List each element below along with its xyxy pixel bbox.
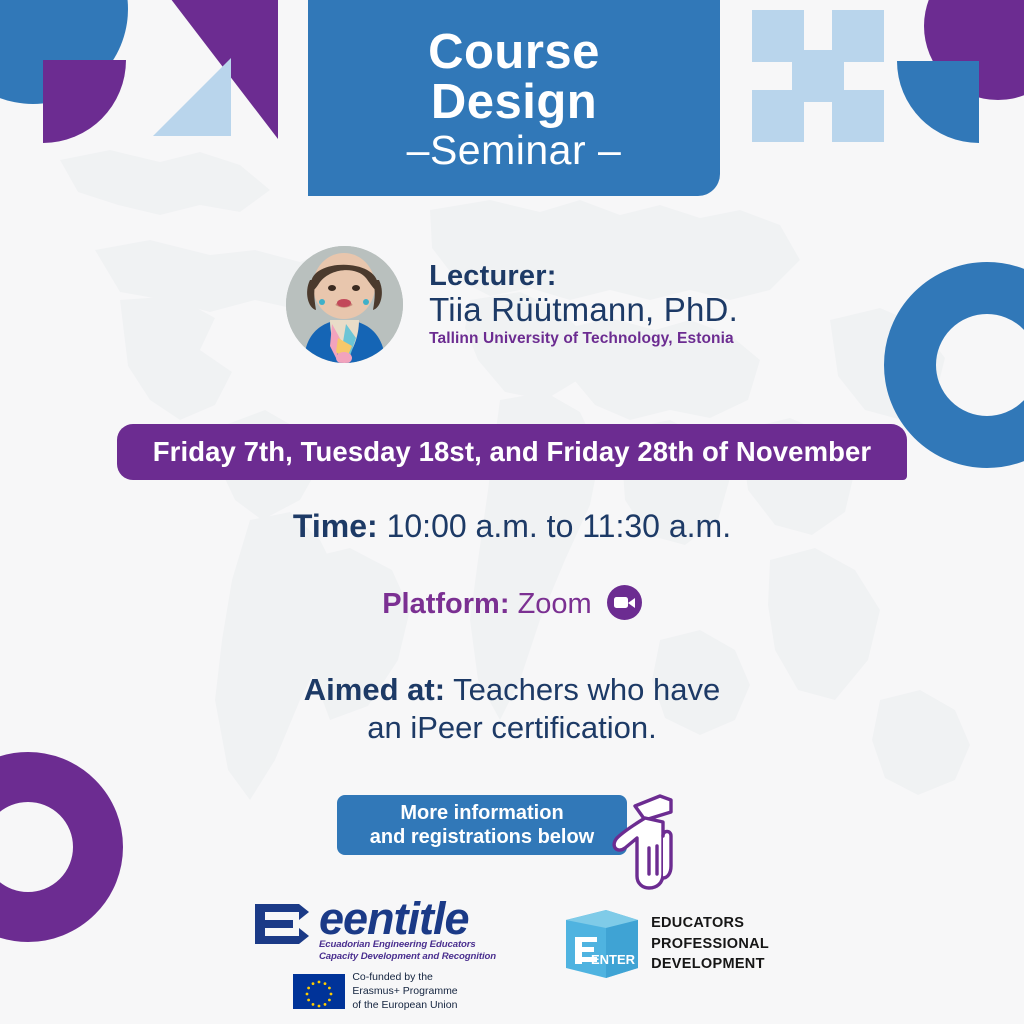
cta-inner: More information and registrations below [337,790,687,900]
footer: eentitle Ecuadorian Engineering Educator… [0,898,1024,1013]
decor-checker-square-2 [832,10,884,62]
time-line: Time: 10:00 a.m. to 11:30 a.m. [0,508,1024,545]
decor-lightblue-triangle-topleft [153,58,231,136]
decor-checker-square-3 [792,50,844,102]
cta-section: More information and registrations below [0,790,1024,900]
decor-purple-circle-topright [924,0,1024,100]
platform-value: Zoom [518,588,592,620]
portrait-illustration [286,246,403,363]
lecturer-section: Lecturer: Tiia Rüütmann, PhD. Tallinn Un… [0,246,1024,363]
enter-cube-word: ENTER [591,952,636,967]
eentitle-logo-top: eentitle Ecuadorian Engineering Educator… [255,898,496,962]
video-camera-icon [607,585,642,620]
decor-purple-triangle-topleft [141,0,278,139]
erasmus-badge: Co-funded by the Erasmus+ Programme of t… [293,971,457,1013]
more-information-button[interactable]: More information and registrations below [337,795,627,855]
platform-label: Platform: [382,588,509,620]
decor-checker-square-1 [752,10,804,62]
eu-flag-icon [293,974,345,1009]
eentitle-logo: eentitle Ecuadorian Engineering Educator… [255,898,496,1013]
cta-line-1: More information [400,801,563,825]
aimed-at-value-2: an iPeer certification. [0,709,1024,747]
erasmus-line-1: Co-funded by the [352,971,457,985]
pointing-hand-icon [605,788,675,893]
decor-checker-square-5 [832,90,884,142]
decor-blue-circle-topleft [0,0,128,104]
eentitle-tagline-1: Ecuadorian Engineering Educators [319,939,496,950]
decor-blue-quarter-topright [897,61,979,143]
enter-line-1: EDUCATORS [651,913,769,934]
avatar [286,246,403,363]
title-block: Course Design –Seminar – [308,0,720,196]
date-banner: Friday 7th, Tuesday 18st, and Friday 28t… [117,424,907,480]
title-line-2: Design [431,78,597,128]
aimed-at-row-1: Aimed at: Teachers who have [0,671,1024,709]
time-value: 10:00 a.m. to 11:30 a.m. [387,508,732,544]
eentitle-wordmark: eentitle Ecuadorian Engineering Educator… [319,898,496,962]
date-text: Friday 7th, Tuesday 18st, and Friday 28t… [153,436,871,468]
erasmus-text: Co-funded by the Erasmus+ Programme of t… [352,971,457,1013]
time-label: Time: [293,508,378,544]
eentitle-mark-icon [255,901,309,947]
lecturer-label: Lecturer: [429,261,738,293]
enter-text: EDUCATORS PROFESSIONAL DEVELOPMENT [651,913,769,975]
aimed-at-value-1: Teachers who have [453,672,720,707]
erasmus-line-3: of the European Union [352,999,457,1013]
lecturer-text: Lecturer: Tiia Rüütmann, PhD. Tallinn Un… [429,261,738,348]
cta-line-2: and registrations below [370,825,594,849]
lecturer-name: Tiia Rüütmann, PhD. [429,292,738,329]
enter-cube-icon: ENTER [566,910,638,978]
enter-line-3: DEVELOPMENT [651,954,769,975]
platform-line: Platform: Zoom [0,585,1024,621]
erasmus-line-2: Erasmus+ Programme [352,985,457,999]
decor-checker-square-4 [752,90,804,142]
title-line-1: Course [428,28,600,78]
enter-line-2: PROFESSIONAL [651,934,769,955]
aimed-at-line: Aimed at: Teachers who have an iPeer cer… [0,671,1024,747]
eentitle-name: eentitle [319,898,496,939]
eentitle-tagline-2: Capacity Development and Recognition [319,951,496,962]
lecturer-affiliation: Tallinn University of Technology, Estoni… [429,330,738,348]
seminar-poster: Course Design –Seminar – [0,0,1024,1024]
enter-logo: ENTER EDUCATORS PROFESSIONAL DEVELOPMENT [566,910,769,978]
decor-purple-quarter-topleft [43,60,126,143]
title-line-3: –Seminar – [407,130,622,172]
aimed-at-label: Aimed at: [304,672,445,707]
